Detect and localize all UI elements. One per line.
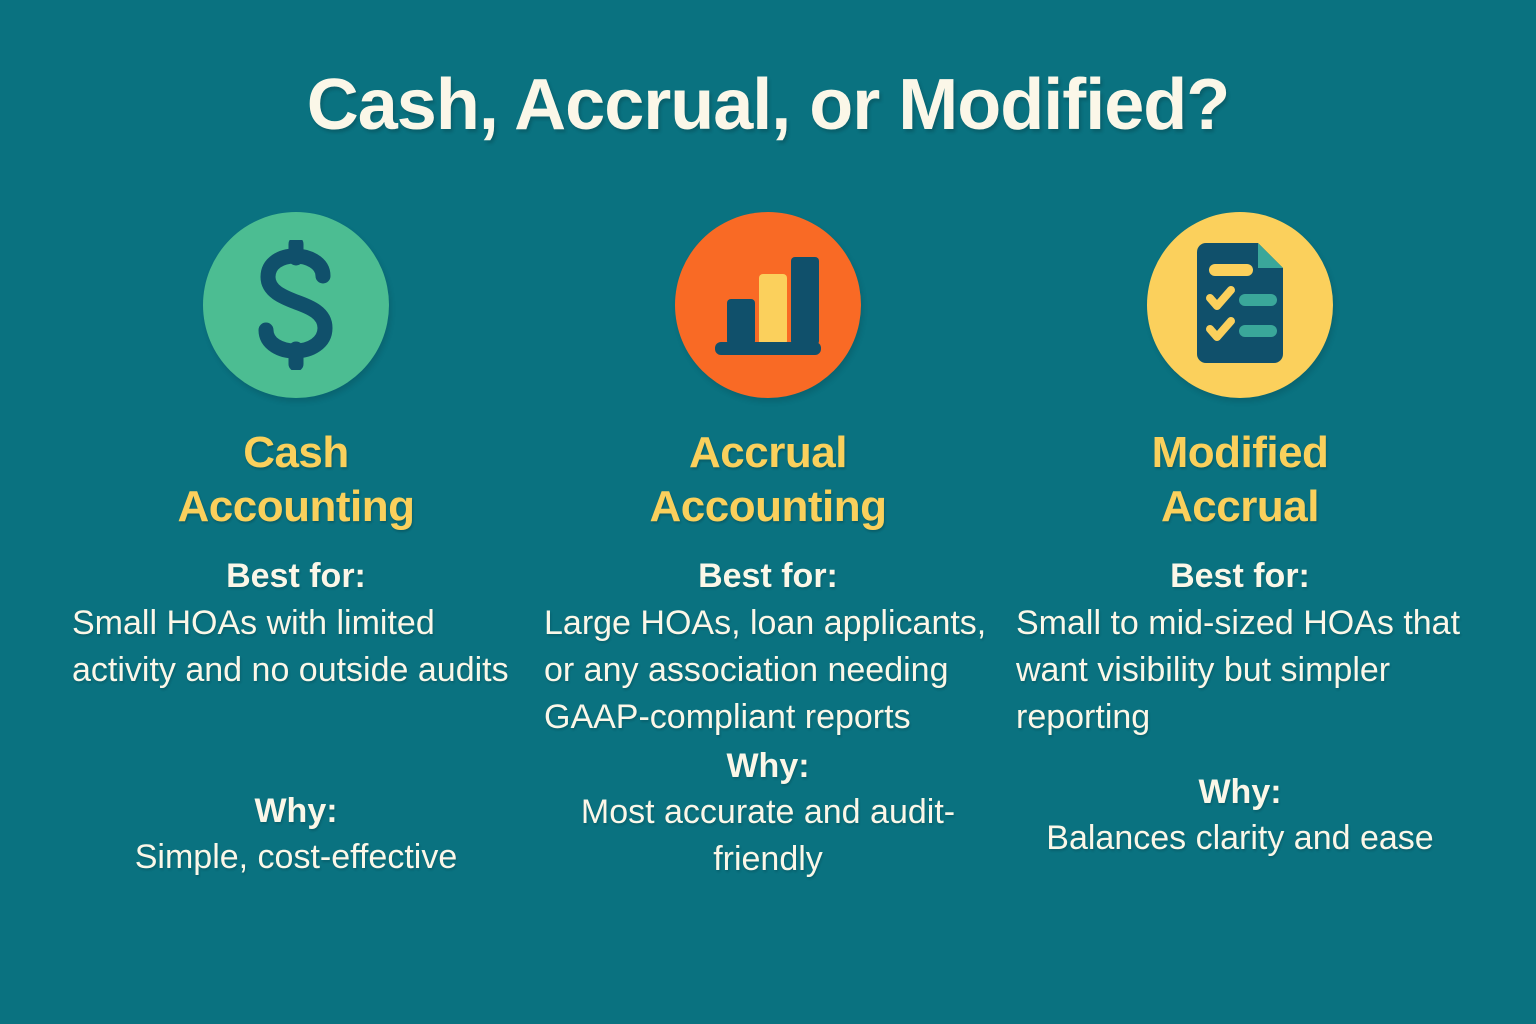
checklist-document-icon [1147, 212, 1333, 398]
why-block: Why: Simple, cost-effective [60, 790, 532, 881]
why-text: Simple, cost-effective [60, 834, 532, 881]
why-label: Why: [1004, 771, 1476, 814]
why-text: Most accurate and audit-friendly [532, 789, 1004, 883]
dollar-sign-icon [203, 212, 389, 398]
best-for-text: Large HOAs, loan applicants, or any asso… [532, 600, 1004, 741]
column-accrual-accounting: Accrual Accounting Best for: Large HOAs,… [532, 212, 1004, 883]
best-for-label: Best for: [1004, 555, 1476, 598]
why-block: Why: Balances clarity and ease [1004, 771, 1476, 862]
best-for-text: Small to mid-sized HOAs that want visibi… [1004, 600, 1476, 741]
why-text: Balances clarity and ease [1004, 815, 1476, 862]
why-label: Why: [60, 790, 532, 833]
page-title: Cash, Accrual, or Modified? [0, 68, 1536, 144]
best-for-label: Best for: [532, 555, 1004, 598]
why-block: Why: Most accurate and audit-friendly [532, 745, 1004, 883]
best-for-text: Small HOAs with limited activity and no … [60, 600, 532, 694]
column-modified-accrual: Modified Accrual Best for: Small to mid-… [1004, 212, 1476, 862]
best-for-block: Best for: Small to mid-sized HOAs that w… [1004, 555, 1476, 740]
column-heading: Accrual Accounting [650, 426, 887, 533]
comparison-columns: Cash Accounting Best for: Small HOAs wit… [60, 212, 1476, 883]
column-heading: Modified Accrual [1152, 426, 1329, 533]
best-for-block: Best for: Small HOAs with limited activi… [60, 555, 532, 693]
column-cash-accounting: Cash Accounting Best for: Small HOAs wit… [60, 212, 532, 881]
bar-chart-icon [675, 212, 861, 398]
best-for-label: Best for: [60, 555, 532, 598]
why-label: Why: [532, 745, 1004, 788]
column-heading: Cash Accounting [178, 426, 415, 533]
best-for-block: Best for: Large HOAs, loan applicants, o… [532, 555, 1004, 740]
